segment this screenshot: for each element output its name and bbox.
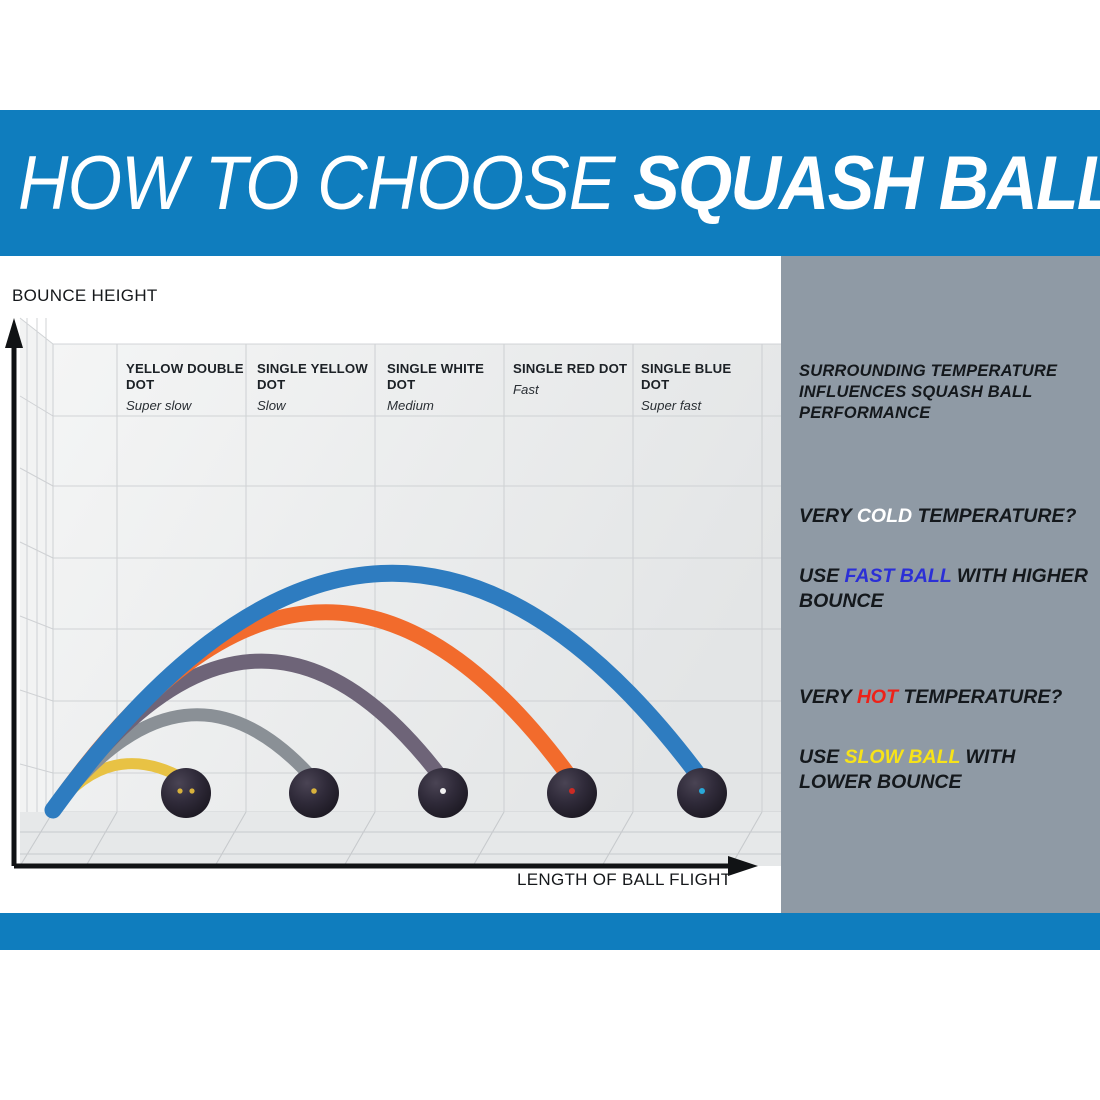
legend-item-single-red-dot: SINGLE RED DOT Fast — [513, 361, 633, 397]
fast-pre: USE — [799, 565, 845, 587]
legend-label: SINGLE WHITE DOT — [387, 361, 507, 393]
hot-post: TEMPERATURE? — [898, 686, 1062, 708]
series-legend: YELLOW DOUBLE DOT Super slow SINGLE YELL… — [0, 256, 781, 913]
advice-sidebar: SURROUNDING TEMPERATURE INFLUENCES SQUAS… — [781, 256, 1100, 913]
legend-item-yellow-double-dot: YELLOW DOUBLE DOT Super slow — [126, 361, 246, 413]
cold-highlight: COLD — [857, 505, 912, 527]
page-title-light: HOW TO CHOOSE — [18, 146, 615, 222]
slow-highlight: SLOW BALL — [845, 746, 961, 768]
sidebar-hot-question: VERY HOT TEMPERATURE? — [799, 685, 1089, 710]
sidebar-slow-advice: USE SLOW BALL WITH LOWER BOUNCE — [799, 745, 1089, 794]
legend-speed: Super fast — [641, 398, 761, 413]
legend-speed: Fast — [513, 382, 633, 397]
page-title: HOW TO CHOOSE SQUASH BALLS — [18, 132, 993, 236]
legend-speed: Super slow — [126, 398, 246, 413]
legend-label: YELLOW DOUBLE DOT — [126, 361, 246, 393]
legend-label: SINGLE BLUE DOT — [641, 361, 761, 393]
sidebar-cold-question: VERY COLD TEMPERATURE? — [799, 504, 1089, 529]
legend-item-single-white-dot: SINGLE WHITE DOT Medium — [387, 361, 507, 413]
fast-highlight: FAST BALL — [845, 565, 952, 587]
hot-pre: VERY — [799, 686, 857, 708]
slow-pre: USE — [799, 746, 845, 768]
legend-speed: Slow — [257, 398, 377, 413]
legend-speed: Medium — [387, 398, 507, 413]
cold-post: TEMPERATURE? — [912, 505, 1076, 527]
legend-label: SINGLE YELLOW DOT — [257, 361, 377, 393]
sidebar-intro-text: SURROUNDING TEMPERATURE INFLUENCES SQUAS… — [799, 361, 1089, 423]
hot-highlight: HOT — [857, 686, 898, 708]
sidebar-fast-advice: USE FAST BALL WITH HIGHER BOUNCE — [799, 564, 1089, 613]
cold-pre: VERY — [799, 505, 857, 527]
legend-item-single-yellow-dot: SINGLE YELLOW DOT Slow — [257, 361, 377, 413]
page-title-bold: SQUASH BALLS — [633, 146, 1100, 222]
legend-item-single-blue-dot: SINGLE BLUE DOT Super fast — [641, 361, 761, 413]
footer-band — [0, 913, 1100, 950]
legend-label: SINGLE RED DOT — [513, 361, 633, 377]
